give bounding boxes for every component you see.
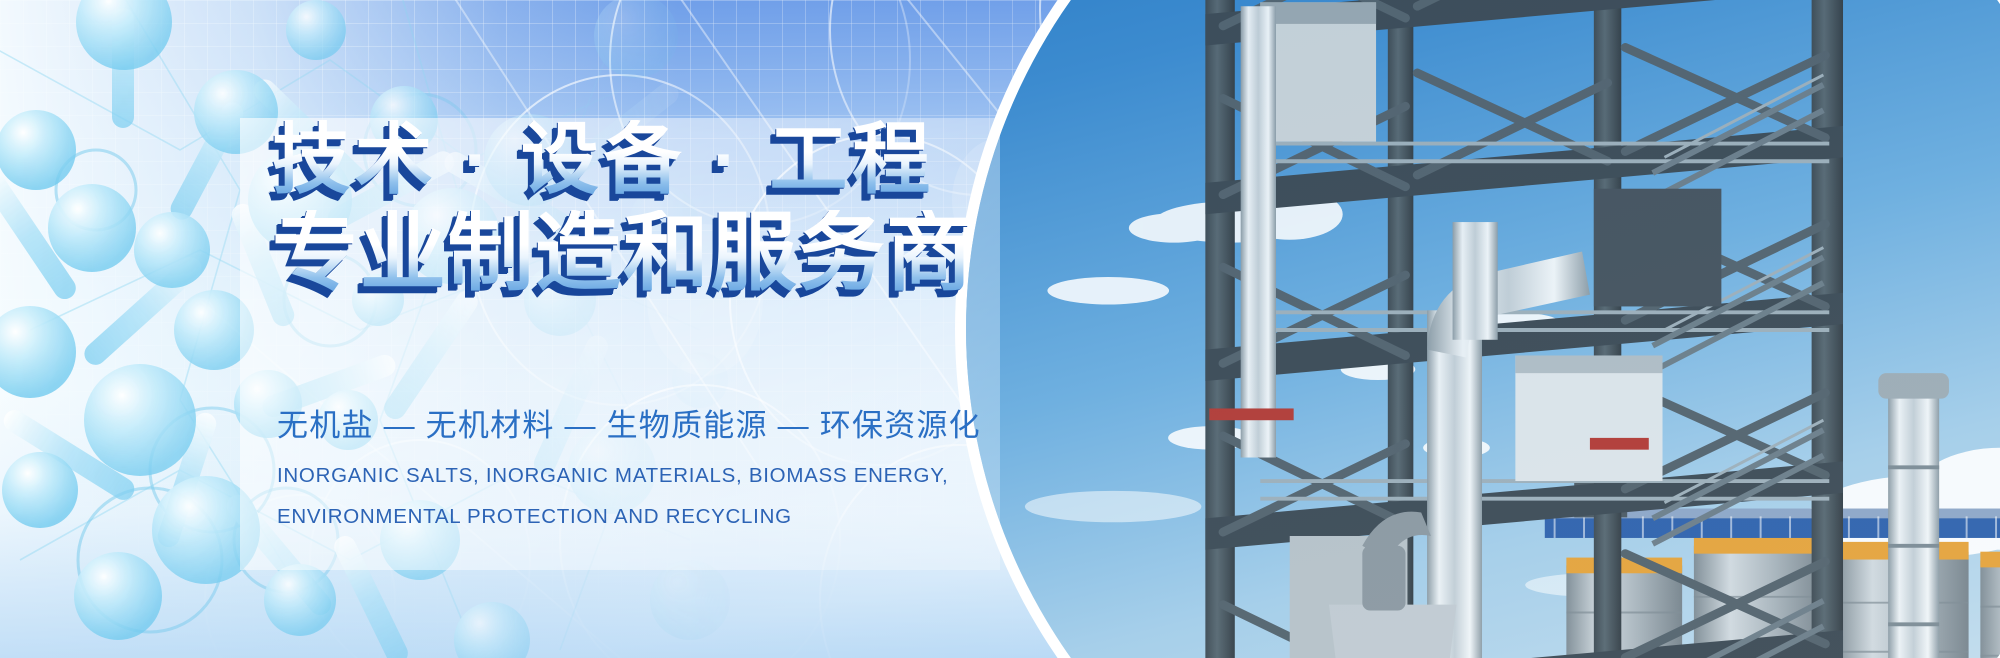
subtitle-english: INORGANIC SALTS, INORGANIC MATERIALS, BI… — [277, 455, 967, 537]
plant-photo — [966, 0, 2000, 658]
subtitle-chinese: 无机盐 — 无机材料 — 生物质能源 — 环保资源化 — [277, 400, 981, 445]
headline-line-2: 专业制造和服务商 — [272, 210, 992, 298]
photo-circle-frame — [955, 0, 2000, 658]
headline-line-1: 技术 · 设备 · 工程 — [272, 120, 992, 200]
hero-banner: 技术 · 设备 · 工程 专业制造和服务商 无机盐 — 无机材料 — 生物质能源… — [0, 0, 2000, 658]
headline: 技术 · 设备 · 工程 专业制造和服务商 — [272, 120, 992, 297]
